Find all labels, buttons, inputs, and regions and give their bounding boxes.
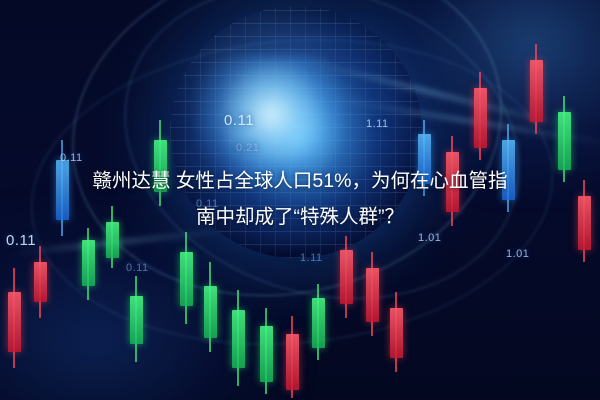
price-label: 1.01 [506,248,529,260]
candlestick [232,290,245,386]
candlestick [204,262,217,352]
caption-text: 赣州达慧 女性占全球人口51%，为何在心血管指 南中却成了“特殊人群”？ [0,163,600,235]
candlestick [390,292,403,372]
candlestick [366,252,379,336]
candlestick [530,44,543,134]
candle-body [8,292,21,352]
candle-body [390,308,403,358]
candle-body [530,60,543,122]
candle-body [82,240,95,286]
candle-body [558,112,571,170]
candle-body [260,326,273,382]
caption-line-1: 赣州达慧 女性占全球人口51%，为何在心血管指 [14,163,586,199]
candlestick [8,268,21,368]
candle-body [340,250,353,304]
price-label: 0.11 [126,262,149,274]
candle-body [366,268,379,322]
caption-line-2: 南中却成了“特殊人群”？ [14,199,586,235]
candlestick [340,236,353,318]
candlestick [312,284,325,360]
candlestick [260,308,273,394]
price-label: 0.21 [236,142,259,154]
candle-body [286,334,299,390]
candlestick [82,228,95,300]
candlestick [130,276,143,362]
candle-body [312,298,325,348]
price-label: 0.11 [224,112,254,129]
candlestick [474,72,487,160]
candle-body [232,310,245,368]
candle-body [474,88,487,148]
price-label: 1.11 [300,252,323,264]
candlestick [180,232,193,324]
candlestick [34,246,47,318]
banner-image: 0.110.110.110.211.111.011.010.111.110.11… [0,0,600,400]
candle-body [204,286,217,338]
candle-body [130,296,143,344]
candle-body [34,262,47,302]
candle-body [180,252,193,306]
price-label: 1.11 [366,118,389,130]
candlestick [286,316,299,398]
